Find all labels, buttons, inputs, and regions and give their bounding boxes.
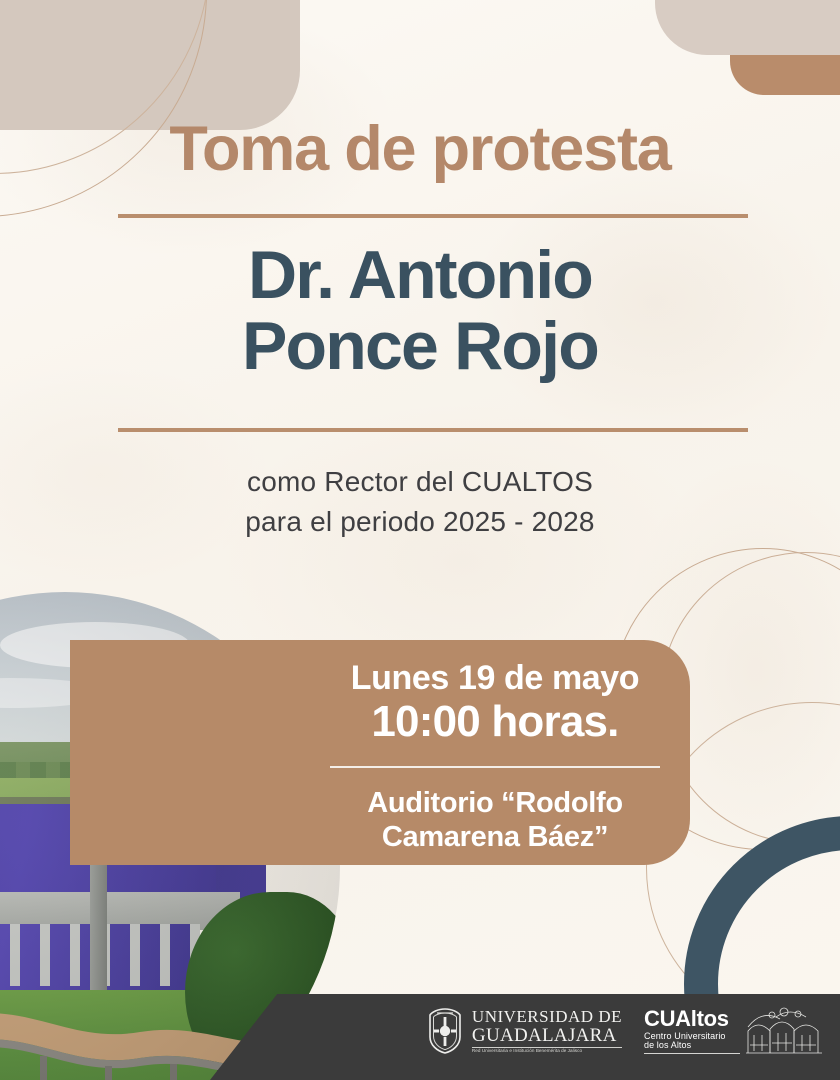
- cualtos-arcade-illustration-icon: [746, 1005, 822, 1057]
- udg-tagline: Red Universitaria e Institución Beneméri…: [472, 1049, 622, 1054]
- poster-canvas: Toma de protesta Dr. Antonio Ponce Rojo …: [0, 0, 840, 1080]
- role-subtitle-line-1: como Rector del CUALTOS: [0, 462, 840, 502]
- event-venue: Auditorio “Rodolfo Camarena Báez”: [310, 786, 680, 854]
- footer-bar: UNIVERSIDAD DE GUADALAJARA Red Universit…: [0, 994, 840, 1080]
- event-details-divider: [330, 766, 660, 768]
- honoree-name: Dr. Antonio Ponce Rojo: [0, 240, 840, 381]
- event-venue-line-2: Camarena Báez”: [310, 820, 680, 854]
- udg-wordmark: UNIVERSIDAD DE GUADALAJARA Red Universit…: [472, 1008, 622, 1054]
- udg-shield-icon: [426, 1007, 464, 1055]
- tan-block-top-right-shape: [730, 55, 840, 95]
- cualtos-divider: [644, 1053, 740, 1054]
- udg-line-1: UNIVERSIDAD DE: [472, 1008, 622, 1025]
- honoree-name-line-1: Dr. Antonio: [0, 240, 840, 311]
- udg-line-2: GUADALAJARA: [472, 1026, 622, 1045]
- footer-logos: UNIVERSIDAD DE GUADALAJARA Red Universit…: [426, 1005, 822, 1057]
- event-details: Lunes 19 de mayo 10:00 horas. Auditorio …: [310, 660, 680, 854]
- beige-block-top-right-shape: [655, 0, 840, 55]
- universidad-de-guadalajara-logo: UNIVERSIDAD DE GUADALAJARA Red Universit…: [426, 1007, 622, 1055]
- role-subtitle-line-2: para el periodo 2025 - 2028: [0, 502, 840, 542]
- page-title: Toma de protesta: [0, 118, 840, 181]
- event-time: 10:00 horas.: [310, 698, 680, 746]
- cualtos-line-1: CUAltos: [644, 1008, 740, 1030]
- divider-top: [118, 214, 748, 218]
- cualtos-line-3: de los Altos: [644, 1041, 740, 1050]
- divider-bottom: [118, 428, 748, 432]
- honoree-name-line-2: Ponce Rojo: [0, 311, 840, 382]
- role-subtitle: como Rector del CUALTOS para el periodo …: [0, 462, 840, 542]
- event-venue-line-1: Auditorio “Rodolfo: [310, 786, 680, 820]
- event-date: Lunes 19 de mayo: [310, 660, 680, 697]
- cualtos-logo: CUAltos Centro Universitario de los Alto…: [644, 1005, 822, 1057]
- cualtos-wordmark: CUAltos Centro Universitario de los Alto…: [644, 1008, 740, 1054]
